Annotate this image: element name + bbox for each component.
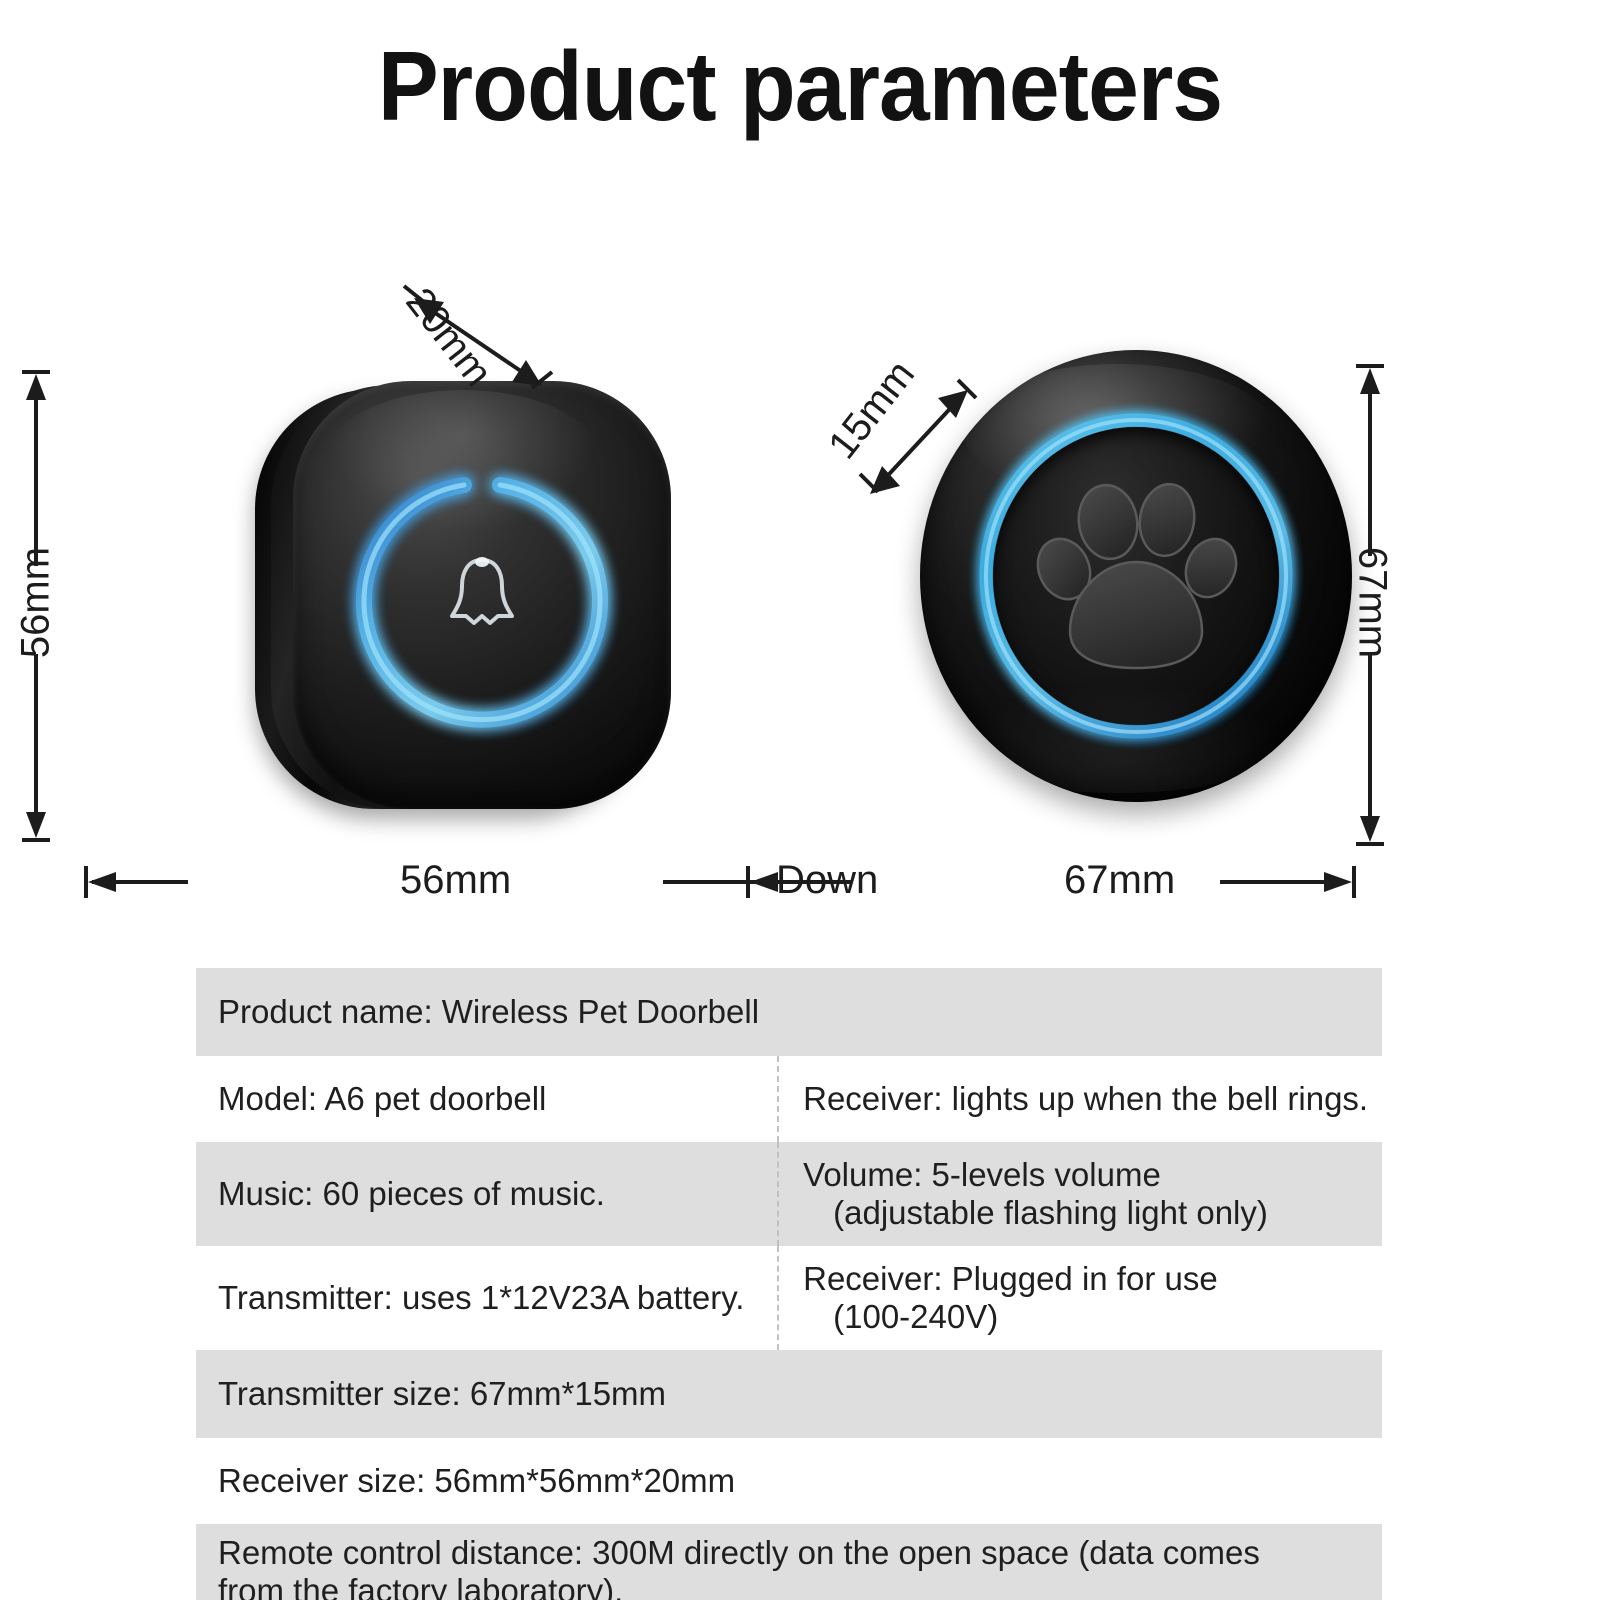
transmitter-width-label: 67mm <box>1064 858 1175 903</box>
table-row: Remote control distance: 300M directly o… <box>196 1524 1382 1600</box>
receiver-device-illustration <box>255 375 675 825</box>
spec-text-line2: (adjustable flashing light only) <box>803 1194 1382 1232</box>
table-row: Receiver size: 56mm*56mm*20mm <box>196 1438 1382 1524</box>
spec-text-line2: (100-240V) <box>803 1298 1382 1336</box>
product-parameters-page: Product parameters <box>0 0 1600 1600</box>
spec-cell-volume: Volume: 5-levels volume (adjustable flas… <box>777 1142 1382 1246</box>
table-row: Product name: Wireless Pet Doorbell <box>196 968 1382 1056</box>
spec-cell-receiver-size: Receiver size: 56mm*56mm*20mm <box>196 1438 1382 1524</box>
receiver-width-label: 56mm <box>400 858 511 903</box>
spec-cell-receiver-power: Receiver: Plugged in for use (100-240V) <box>777 1246 1382 1350</box>
receiver-width-dimension-line <box>78 862 598 902</box>
table-row: Transmitter size: 67mm*15mm <box>196 1350 1382 1438</box>
paw-print-icon <box>1024 466 1248 690</box>
spec-text: Receiver: Plugged in for use <box>803 1260 1218 1297</box>
table-row: Music: 60 pieces of music. Volume: 5-lev… <box>196 1142 1382 1246</box>
transmitter-width-dimension-line <box>740 862 1370 902</box>
column-divider <box>777 1142 779 1246</box>
spec-text: Music: 60 pieces of music. <box>218 1175 605 1212</box>
spec-text-line2: from the factory laboratory). <box>218 1572 1382 1600</box>
column-divider <box>777 1056 779 1142</box>
receiver-height-label: 56mm <box>14 523 59 683</box>
spec-text: Receiver: lights up when the bell rings. <box>803 1080 1368 1117</box>
spec-cell-product-name: Product name: Wireless Pet Doorbell <box>196 968 1382 1056</box>
spec-text: Remote control distance: 300M directly o… <box>218 1534 1260 1571</box>
spec-text: Model: A6 pet doorbell <box>218 1080 546 1117</box>
spec-cell-transmitter-battery: Transmitter: uses 1*12V23A battery. <box>196 1246 777 1350</box>
bell-icon <box>444 552 520 638</box>
transmitter-inner-disc <box>993 427 1279 725</box>
table-row: Transmitter: uses 1*12V23A battery. Rece… <box>196 1246 1382 1350</box>
spec-text: Receiver size: 56mm*56mm*20mm <box>218 1462 735 1499</box>
spec-text: Volume: 5-levels volume <box>803 1156 1161 1193</box>
spec-cell-music: Music: 60 pieces of music. <box>196 1142 777 1246</box>
spec-text: Product name: Wireless Pet Doorbell <box>218 993 759 1030</box>
column-divider <box>777 1246 779 1350</box>
spec-cell-receiver-light: Receiver: lights up when the bell rings. <box>777 1056 1382 1142</box>
spec-cell-model: Model: A6 pet doorbell <box>196 1056 777 1142</box>
product-illustrations: 56mm 56mm Down 20mm <box>0 250 1600 930</box>
spec-text: Transmitter: uses 1*12V23A battery. <box>218 1279 744 1316</box>
spec-cell-transmitter-size: Transmitter size: 67mm*15mm <box>196 1350 1382 1438</box>
spec-cell-remote-distance: Remote control distance: 300M directly o… <box>196 1524 1382 1600</box>
table-row: Model: A6 pet doorbell Receiver: lights … <box>196 1056 1382 1142</box>
page-title: Product parameters <box>56 30 1544 143</box>
transmitter-height-label: 67mm <box>1350 523 1395 683</box>
receiver-body-face <box>293 381 671 809</box>
spec-table: Product name: Wireless Pet Doorbell Mode… <box>196 968 1382 1600</box>
spec-text: Transmitter size: 67mm*15mm <box>218 1375 666 1412</box>
